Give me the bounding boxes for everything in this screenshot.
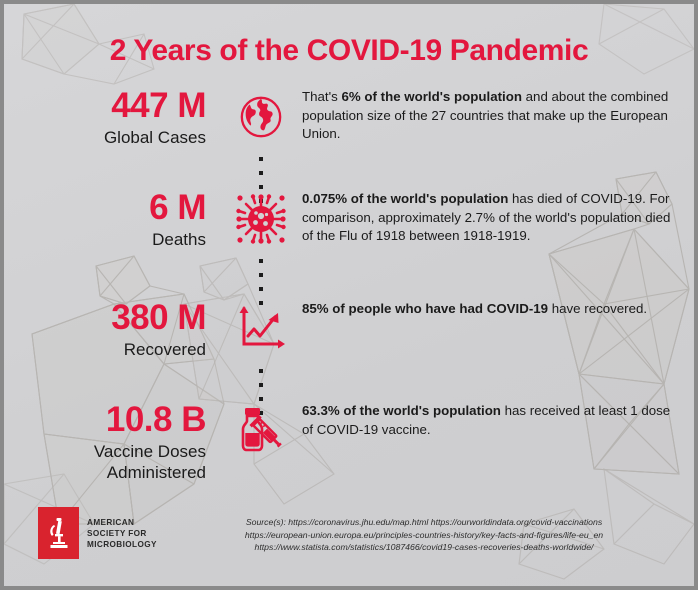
stat-number: 10.8 B	[4, 402, 206, 438]
microscope-icon	[38, 507, 79, 559]
source-line: https://european-union.europa.eu/princip…	[164, 529, 684, 542]
stat-description: 63.3% of the world's population has rece…	[302, 402, 694, 439]
page-title: 2 Years of the COVID-19 Pandemic	[4, 34, 694, 68]
stat-block: 6 M Deaths	[4, 190, 220, 250]
globe-icon	[238, 88, 284, 146]
line-chart-icon	[237, 300, 285, 358]
infographic-poster: 2 Years of the COVID-19 Pandemic 447 M G…	[4, 4, 694, 586]
icon-column	[220, 402, 302, 460]
source-line: Source(s): https://coronavirus.jhu.edu/m…	[164, 516, 684, 529]
source-line: https://www.statista.com/statistics/1087…	[164, 541, 684, 554]
logo-line-2: SOCIETY FOR	[87, 528, 157, 539]
sources-block: Source(s): https://coronavirus.jhu.edu/m…	[164, 516, 684, 554]
stat-label: Deaths	[4, 229, 206, 250]
icon-column	[220, 190, 302, 310]
desc-bold: 0.075% of the world's population	[302, 191, 508, 206]
stat-block: 380 M Recovered	[4, 300, 220, 360]
stat-block: 10.8 B Vaccine Doses Administered	[4, 402, 220, 483]
logo-line-1: AMERICAN	[87, 517, 157, 528]
stat-number: 6 M	[4, 190, 206, 226]
stat-description: 85% of people who have had COVID-19 have…	[302, 300, 694, 319]
stat-label: Vaccine Doses Administered	[4, 441, 206, 483]
stat-description: That's 6% of the world's population and …	[302, 88, 694, 144]
desc-plain: have recovered.	[548, 301, 647, 316]
asm-logo-text: AMERICAN SOCIETY FOR MICROBIOLOGY	[87, 517, 157, 550]
desc-plain: That's	[302, 89, 342, 104]
stat-label: Global Cases	[4, 127, 206, 148]
asm-logo: AMERICAN SOCIETY FOR MICROBIOLOGY	[38, 507, 157, 559]
desc-bold: 85% of people who have had COVID-19	[302, 301, 548, 316]
virus-icon	[236, 190, 286, 248]
stat-row-deaths: 6 M Deaths	[4, 190, 694, 310]
stat-row-vaccine-doses: 10.8 B Vaccine Doses Administered	[4, 402, 694, 483]
stat-number: 380 M	[4, 300, 206, 336]
vaccine-icon	[237, 402, 285, 460]
logo-line-3: MICROBIOLOGY	[87, 539, 157, 550]
desc-bold: 63.3% of the world's population	[302, 403, 501, 418]
stat-block: 447 M Global Cases	[4, 88, 220, 148]
desc-bold: 6% of the world's population	[342, 89, 522, 104]
stat-label: Recovered	[4, 339, 206, 360]
stat-number: 447 M	[4, 88, 206, 124]
stat-description: 0.075% of the world's population has die…	[302, 190, 694, 246]
